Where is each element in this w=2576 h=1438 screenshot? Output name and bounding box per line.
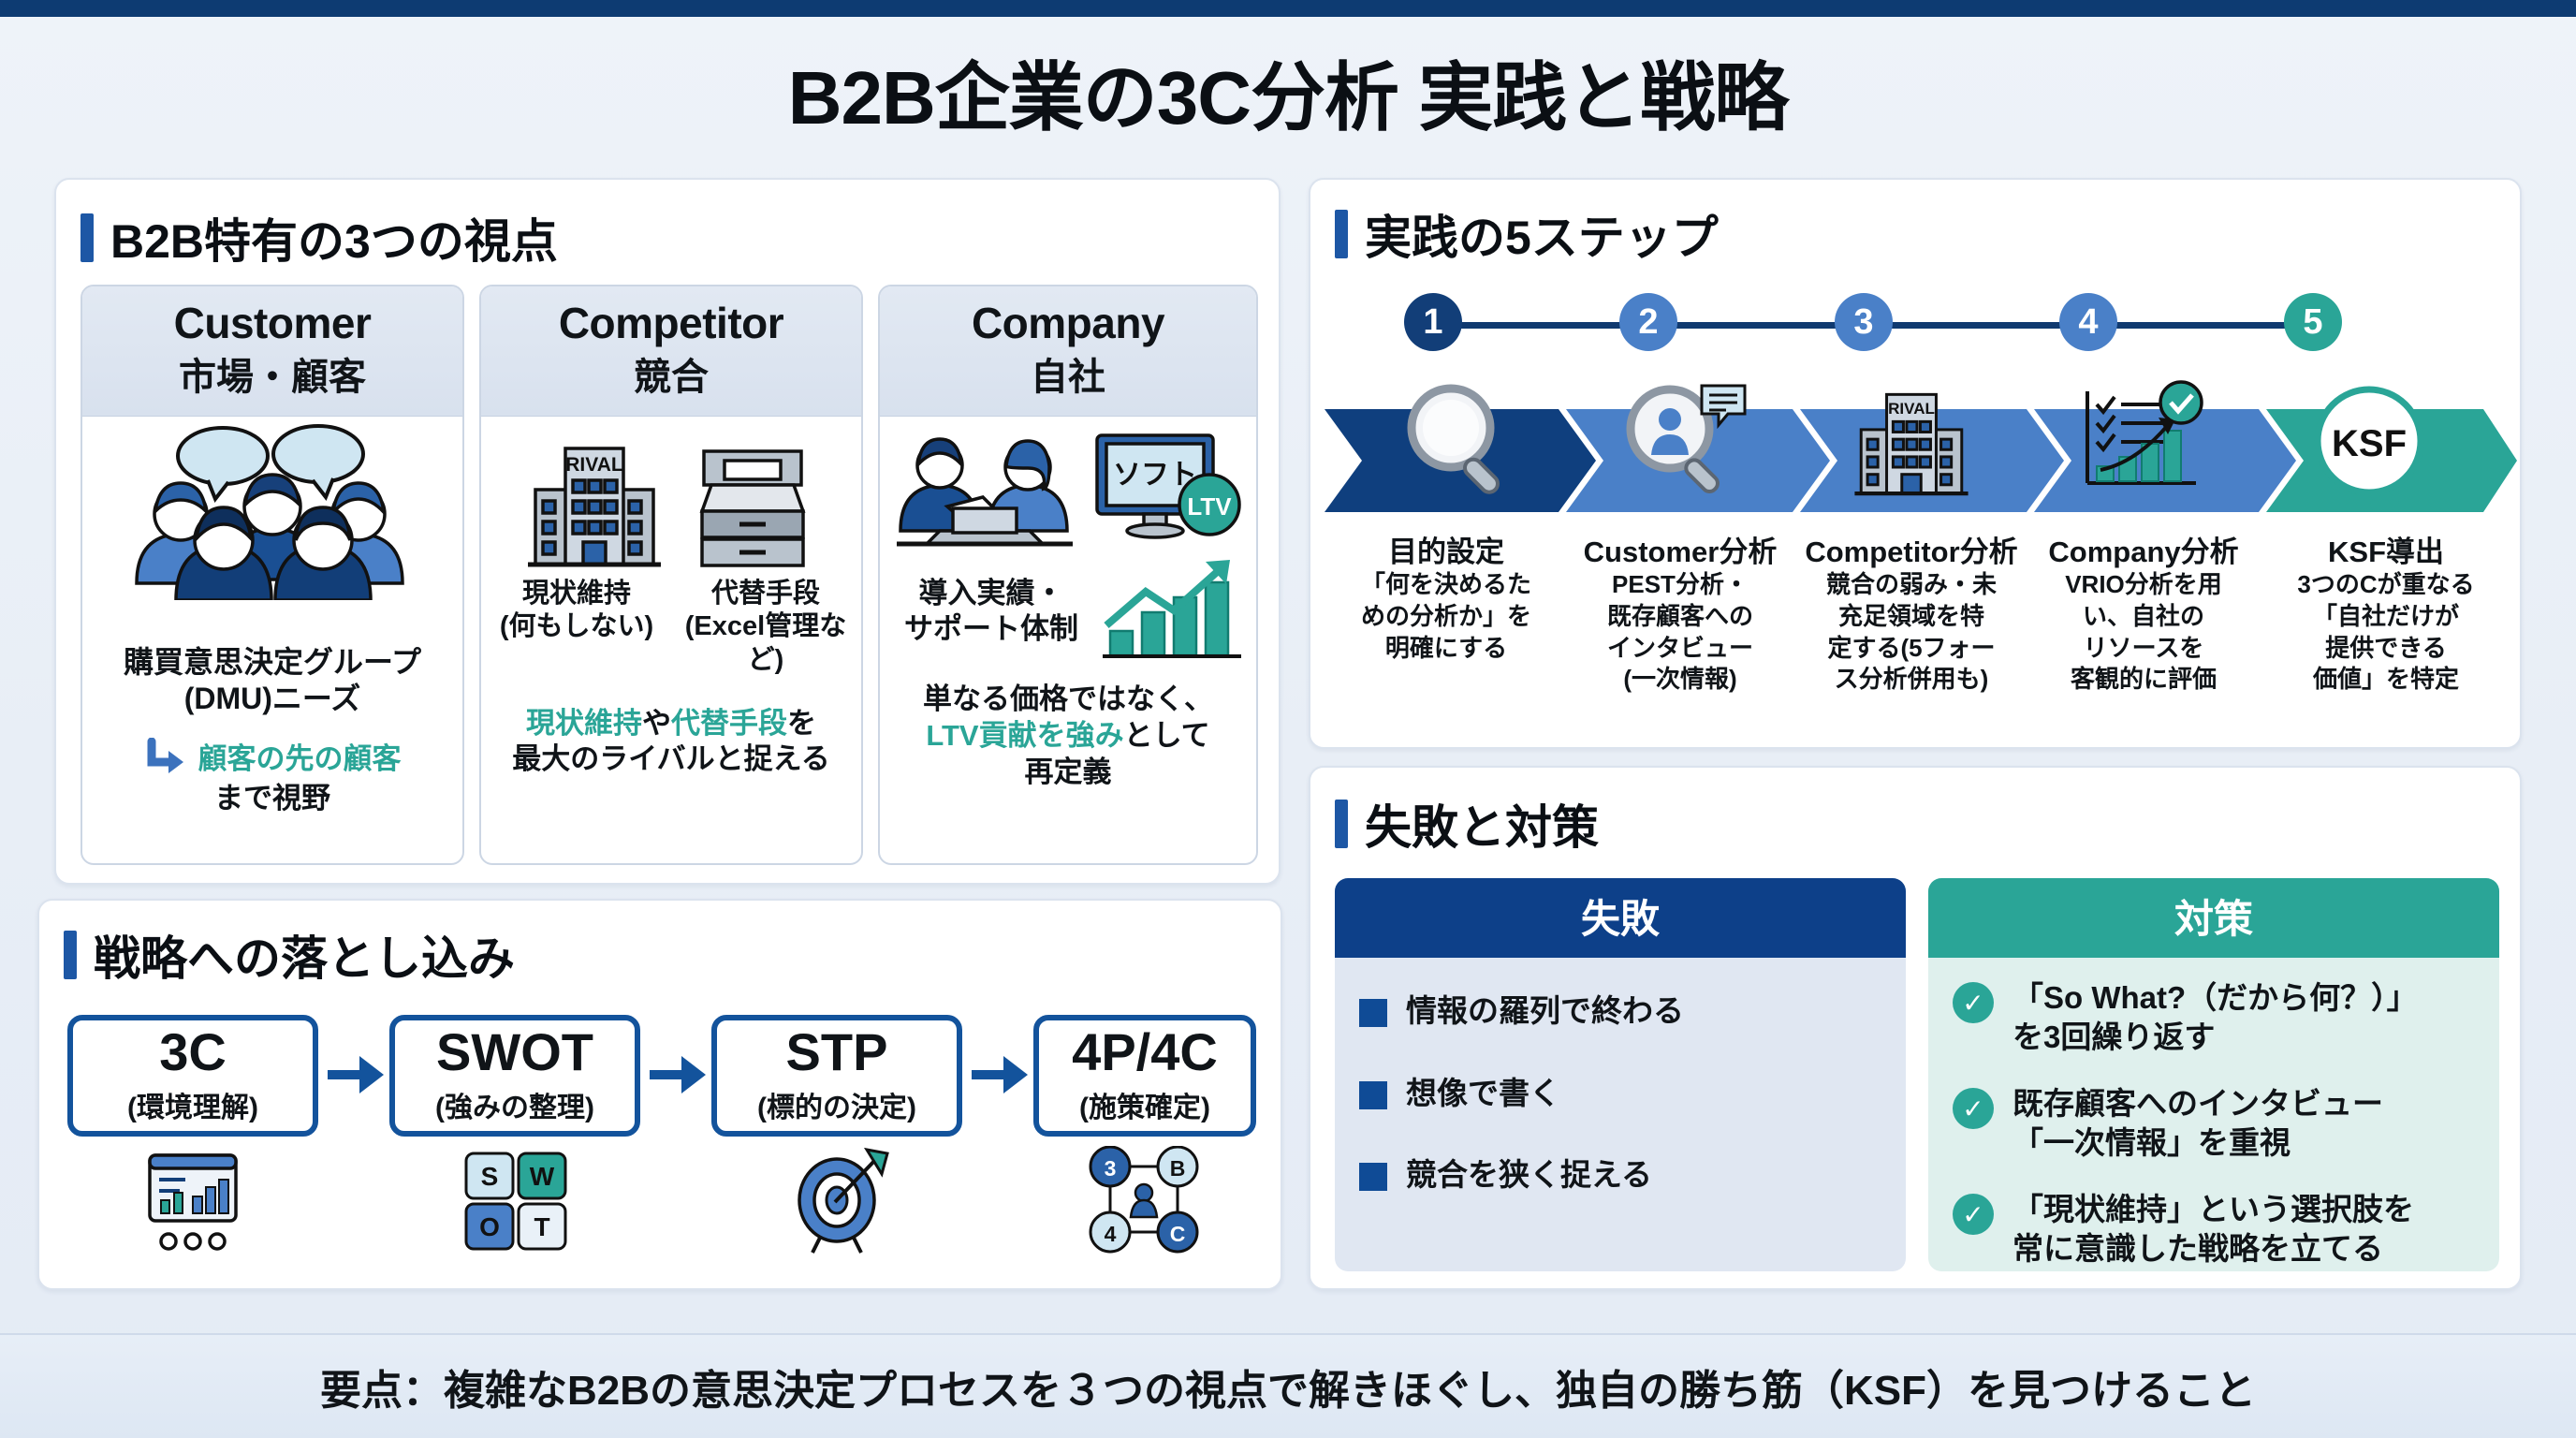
section-accent-bar bbox=[64, 931, 77, 979]
strategy-box-4p4c-main: 4P/4C bbox=[1072, 1026, 1218, 1078]
svg-text:B: B bbox=[1170, 1156, 1186, 1181]
arrow-right-icon bbox=[326, 1050, 386, 1099]
svg-text:3: 3 bbox=[1105, 1156, 1117, 1181]
fail-card-header: 失敗 bbox=[1335, 878, 1906, 958]
card-customer[interactable]: Customer 市場・顧客 bbox=[80, 285, 464, 865]
step-dot-1[interactable]: 1 bbox=[1404, 293, 1462, 351]
perspectives-title: B2B特有の3つの視点 bbox=[110, 204, 558, 271]
arrow-right-icon bbox=[648, 1050, 708, 1099]
section-accent-bar bbox=[1335, 800, 1348, 848]
arrow-right-icon bbox=[970, 1050, 1030, 1099]
bullet-square-icon bbox=[1359, 999, 1387, 1027]
step-desc-4: VRIO分析を用 い、自社の リソースを 客観的に評価 bbox=[2024, 569, 2263, 696]
swot-grid-icon: S W O T bbox=[462, 1150, 571, 1255]
card-company-note-line3: 再定義 bbox=[923, 755, 1213, 791]
list-item: 競合を狭く捉える bbox=[1359, 1155, 1881, 1195]
card-company-en: Company bbox=[884, 298, 1252, 348]
card-company-note-line2: LTV貢献を強みとして bbox=[923, 718, 1213, 755]
card-competitor-sub-left: 現状維持 (何もしない) bbox=[487, 578, 666, 677]
failures-title: 失敗と対策 bbox=[1365, 790, 1599, 858]
step-desc-5: 3つのCが重なる 「自社だけが 提供できる 価値」を特定 bbox=[2261, 569, 2510, 696]
strategy-box-stp-main: STP bbox=[786, 1026, 888, 1078]
strategy-heading: 戦略への落とし込み bbox=[64, 921, 515, 989]
svg-text:LTV: LTV bbox=[1187, 492, 1232, 521]
counter-card-header: 対策 bbox=[1928, 878, 2499, 958]
step-label-1: 目的設定 bbox=[1320, 528, 1573, 570]
strategy-box-swot-main: SWOT bbox=[436, 1026, 593, 1078]
list-item: 情報の羅列で終わる bbox=[1359, 991, 1881, 1031]
svg-text:O: O bbox=[479, 1212, 500, 1241]
card-customer-note-rest: まで視野 bbox=[214, 781, 330, 817]
counter-card-body: ✓ 「So What?（だから何？）」 を3回繰り返す ✓ 既存顧客へのインタビ… bbox=[1928, 958, 2499, 1271]
fail-card: 失敗 情報の羅列で終わる 想像で書く 競合を狭く捉える bbox=[1335, 878, 1906, 1271]
step-dot-3[interactable]: 3 bbox=[1835, 293, 1893, 351]
counter-card: 対策 ✓ 「So What?（だから何？）」 を3回繰り返す ✓ 既存顧客へのイ… bbox=[1928, 878, 2499, 1271]
user-search-icon bbox=[1621, 378, 1752, 502]
strategy-box-stp[interactable]: STP (標的の決定) bbox=[711, 1015, 962, 1137]
card-competitor-sub-right: 代替手段 (Excel管理など) bbox=[676, 578, 856, 677]
footer-text: 要点：複雑なB2Bの意思決定プロセスを３つの視点で解きほぐし、独自の勝ち筋（KS… bbox=[320, 1357, 2256, 1416]
strategy-box-3c-sub: (環境理解) bbox=[127, 1084, 258, 1125]
file-cabinet-icon bbox=[687, 436, 818, 572]
rival-building-icon: RIVAL bbox=[1851, 380, 1971, 500]
svg-text:T: T bbox=[534, 1212, 549, 1241]
strategy-box-4p4c-sub: (施策確定) bbox=[1079, 1084, 1210, 1125]
svg-text:W: W bbox=[530, 1162, 555, 1191]
list-item: ✓ 「So What?（だから何？）」 を3回繰り返す bbox=[1953, 978, 2475, 1056]
step-dot-5[interactable]: 5 bbox=[2284, 293, 2342, 351]
card-company[interactable]: Company 自社 bbox=[878, 285, 1258, 865]
card-competitor-jp: 競合 bbox=[485, 346, 857, 401]
network-nodes-icon: 3 B 4 C bbox=[1086, 1146, 1202, 1255]
svg-text:ソフト: ソフト bbox=[1113, 460, 1197, 491]
panel-steps: 実践の5ステップ 1 2 3 4 5 bbox=[1309, 178, 2522, 749]
ksf-circle-icon: KSF bbox=[2308, 381, 2430, 501]
dashboard-chart-icon bbox=[144, 1152, 247, 1255]
strategy-title: 戦略への落とし込み bbox=[94, 921, 515, 989]
failures-heading: 失敗と対策 bbox=[1335, 790, 1599, 858]
monitor-ltv-icon: ソフト LTV bbox=[1086, 426, 1245, 552]
section-accent-bar bbox=[1335, 210, 1348, 258]
strategy-box-4p4c[interactable]: 4P/4C (施策確定) bbox=[1033, 1015, 1256, 1137]
card-competitor[interactable]: Competitor 競合 bbox=[479, 285, 863, 865]
step-dot-2[interactable]: 2 bbox=[1619, 293, 1677, 351]
step-dot-4[interactable]: 4 bbox=[2059, 293, 2117, 351]
svg-text:4: 4 bbox=[1105, 1222, 1117, 1246]
panel-perspectives: B2B特有の3つの視点 Customer 市場・顧客 bbox=[54, 178, 1281, 885]
perspectives-heading: B2B特有の3つの視点 bbox=[80, 204, 558, 271]
bullet-square-icon bbox=[1359, 1163, 1387, 1191]
section-accent-bar bbox=[80, 213, 94, 262]
card-company-jp: 自社 bbox=[884, 346, 1252, 401]
step-label-2: Customer分析 bbox=[1561, 528, 1799, 570]
panel-strategy: 戦略への落とし込み 3C (環境理解) SWOT (強みの整理) STP (標的… bbox=[37, 899, 1282, 1290]
check-circle-icon: ✓ bbox=[1953, 1088, 1994, 1129]
card-customer-caption: 購買意思決定グループ (DMU)ニーズ bbox=[124, 608, 421, 717]
panel-failures: 失敗と対策 失敗 情報の羅列で終わる 想像で書く 競合を狭く捉える 対策 ✓ 「… bbox=[1309, 766, 2522, 1290]
steps-heading: 実践の5ステップ bbox=[1335, 200, 1719, 268]
card-competitor-note-line2: 最大のライバルと捉える bbox=[512, 741, 829, 778]
check-circle-icon: ✓ bbox=[1953, 1194, 1994, 1235]
step-desc-1: 「何を決めるた めの分析か」を 明確にする bbox=[1320, 569, 1573, 664]
strategy-box-swot[interactable]: SWOT (強みの整理) bbox=[389, 1015, 640, 1137]
footer-bar: 要点：複雑なB2Bの意思決定プロセスを３つの視点で解きほぐし、独自の勝ち筋（KS… bbox=[0, 1333, 2576, 1438]
checklist-growth-icon bbox=[2076, 378, 2207, 500]
strategy-box-3c[interactable]: 3C (環境理解) bbox=[67, 1015, 318, 1137]
svg-text:S: S bbox=[481, 1162, 499, 1191]
growth-bar-chart-icon bbox=[1097, 556, 1247, 667]
people-group-icon bbox=[118, 422, 427, 600]
card-competitor-en: Competitor bbox=[485, 298, 857, 348]
arrow-elbow-icon bbox=[144, 738, 189, 781]
card-customer-header: Customer 市場・顧客 bbox=[82, 286, 462, 417]
list-item: ✓ 「現状維持」という選択肢を 常に意識した戦略を立てる bbox=[1953, 1190, 2475, 1268]
step-desc-2: PEST分析・ 既存顧客への インタビュー (一次情報) bbox=[1561, 569, 1799, 696]
card-customer-en: Customer bbox=[86, 298, 459, 348]
team-laptop-icon bbox=[891, 426, 1078, 552]
card-company-note-line1: 単なる価格ではなく、 bbox=[923, 682, 1213, 718]
card-customer-highlight: 顧客の先の顧客 bbox=[198, 741, 402, 778]
page-title: B2B企業の3C分析 実践と戦略 bbox=[0, 37, 2576, 146]
top-accent-bar bbox=[0, 0, 2576, 17]
card-customer-jp: 市場・顧客 bbox=[86, 346, 459, 401]
check-circle-icon: ✓ bbox=[1953, 982, 1994, 1023]
bullet-square-icon bbox=[1359, 1081, 1387, 1109]
svg-text:C: C bbox=[1170, 1222, 1186, 1246]
svg-text:KSF: KSF bbox=[2332, 423, 2407, 464]
rival-building-icon: RIVAL bbox=[524, 432, 665, 572]
step-label-4: Company分析 bbox=[2024, 528, 2263, 570]
magnifier-icon bbox=[1397, 381, 1520, 503]
step-label-5: KSF導出 bbox=[2261, 528, 2510, 570]
card-competitor-note-line1: 現状維持や代替手段を bbox=[512, 705, 829, 741]
step-desc-3: 競合の弱み・未 充足領域を特 定する(5フォー ス分析併用も) bbox=[1790, 569, 2033, 696]
strategy-box-stp-sub: (標的の決定) bbox=[757, 1084, 916, 1125]
strategy-box-3c-main: 3C bbox=[159, 1026, 227, 1078]
card-competitor-header: Competitor 競合 bbox=[481, 286, 861, 417]
fail-card-body: 情報の羅列で終わる 想像で書く 競合を狭く捉える bbox=[1335, 958, 1906, 1232]
svg-text:RIVAL: RIVAL bbox=[565, 454, 623, 476]
card-company-header: Company 自社 bbox=[880, 286, 1256, 417]
strategy-box-swot-sub: (強みの整理) bbox=[435, 1084, 594, 1125]
list-item: ✓ 既存顧客へのインタビュー 「一次情報」を重視 bbox=[1953, 1084, 2475, 1162]
step-label-3: Competitor分析 bbox=[1790, 528, 2033, 570]
list-item: 想像で書く bbox=[1359, 1074, 1881, 1113]
svg-text:RIVAL: RIVAL bbox=[1888, 400, 1935, 418]
steps-title: 実践の5ステップ bbox=[1365, 200, 1719, 268]
target-arrow-icon bbox=[788, 1148, 893, 1255]
card-company-caption: 導入実績・ サポート体制 bbox=[889, 576, 1093, 647]
